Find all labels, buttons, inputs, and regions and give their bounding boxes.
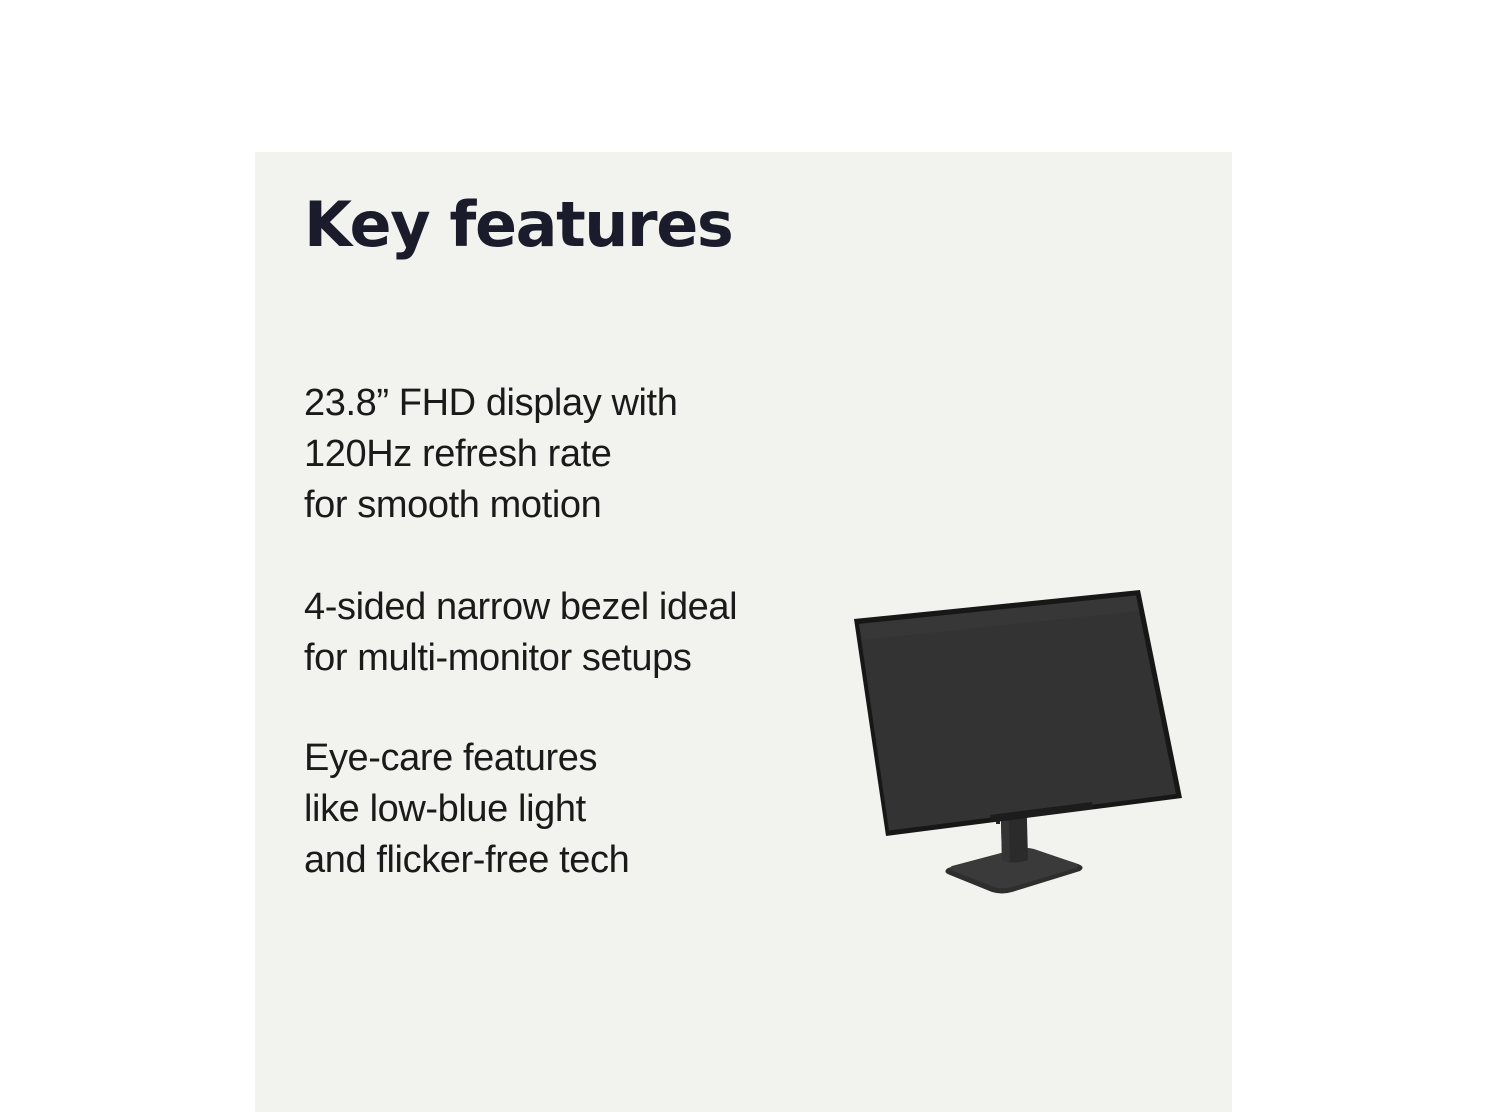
key-features-panel: Key features 23.8” FHD display with 120H… bbox=[255, 152, 1232, 1112]
monitor-product-image bbox=[830, 572, 1190, 902]
feature-item-bezel: 4-sided narrow bezel ideal for multi-mon… bbox=[304, 582, 737, 684]
feature-line: for multi-monitor setups bbox=[304, 633, 737, 684]
monitor-icon bbox=[830, 572, 1190, 902]
feature-line: 4-sided narrow bezel ideal bbox=[304, 582, 737, 633]
feature-line: 120Hz refresh rate bbox=[304, 429, 677, 480]
feature-line: 23.8” FHD display with bbox=[304, 378, 677, 429]
feature-line: and flicker-free tech bbox=[304, 835, 629, 886]
page-root: Key features 23.8” FHD display with 120H… bbox=[0, 0, 1485, 1112]
page-title: Key features bbox=[304, 192, 844, 257]
feature-item-display: 23.8” FHD display with 120Hz refresh rat… bbox=[304, 378, 677, 531]
feature-item-eye-care: Eye-care features like low-blue light an… bbox=[304, 733, 629, 886]
feature-line: like low-blue light bbox=[304, 784, 629, 835]
text-column: Key features 23.8” FHD display with 120H… bbox=[304, 192, 844, 257]
feature-line: for smooth motion bbox=[304, 480, 677, 531]
feature-line: Eye-care features bbox=[304, 733, 629, 784]
